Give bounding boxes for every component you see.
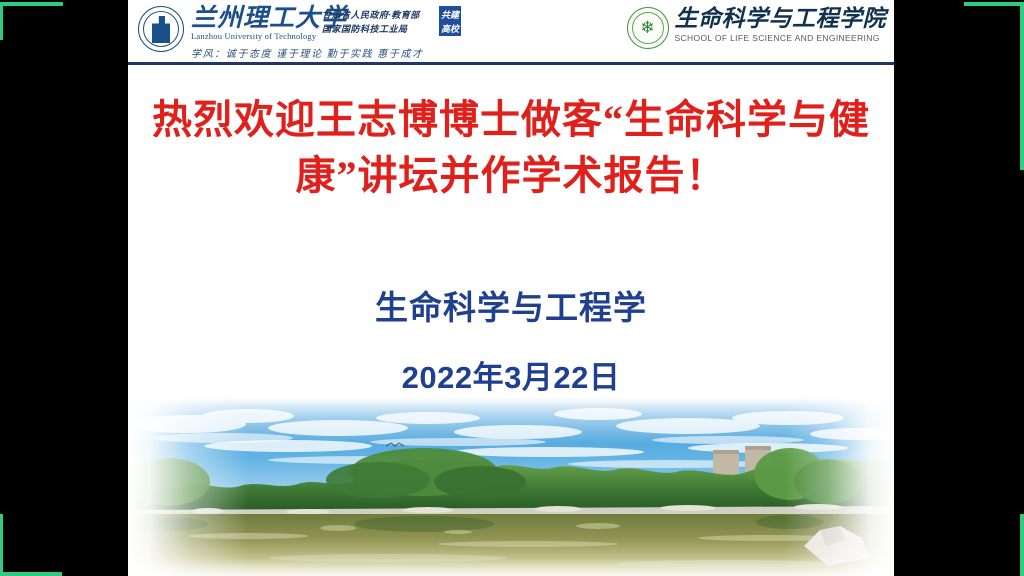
presentation-slide: 兰州理工大学 Lanzhou University of Technology … bbox=[128, 0, 894, 576]
slide-letterbox: 兰州理工大学 Lanzhou University of Technology … bbox=[0, 0, 1024, 576]
selection-marker-top-right bbox=[964, 2, 1024, 6]
slide-headline: 热烈欢迎王志博博士做客“生命科学与健康”讲坛并作学术报告！ bbox=[146, 92, 876, 204]
selection-marker-right-upper bbox=[1020, 2, 1024, 170]
university-seal-icon bbox=[138, 6, 184, 52]
co-built-university-badge: 共建 高校 bbox=[439, 6, 461, 36]
selection-marker-right-lower bbox=[1020, 514, 1024, 576]
university-motto: 学风：诚于态度 谨于理论 勤于实践 惠于成才 bbox=[191, 45, 424, 60]
badge-line-1: 共建 bbox=[439, 8, 461, 22]
slide-header: 兰州理工大学 Lanzhou University of Technology … bbox=[128, 0, 894, 66]
seal-leaf-glyph: ❄ bbox=[638, 18, 658, 38]
co-builders-line-2: 国家国防科技工业局 bbox=[322, 22, 442, 36]
seal-tower-glyph bbox=[152, 16, 170, 43]
slide-subtitle: 生命科学与工程学 bbox=[128, 288, 894, 328]
school-logo: ❄ 生命科学与工程学院 SCHOOL OF LIFE SCIENCE AND E… bbox=[627, 4, 887, 56]
co-builders-text: 甘肃省人民政府·教育部 国家国防科技工业局 bbox=[322, 8, 442, 36]
school-name-en: SCHOOL OF LIFE SCIENCE AND ENGINEERING bbox=[675, 33, 887, 43]
photo-fade-bottom bbox=[128, 542, 894, 576]
campus-lake-landscape-photo bbox=[128, 398, 894, 576]
slide-date: 2022年3月22日 bbox=[128, 358, 894, 398]
co-builders-line-1: 甘肃省人民政府·教育部 bbox=[322, 8, 442, 22]
school-seal-icon: ❄ bbox=[627, 7, 669, 49]
badge-line-2: 高校 bbox=[439, 22, 461, 36]
school-logo-text: 生命科学与工程学院 SCHOOL OF LIFE SCIENCE AND ENG… bbox=[675, 4, 887, 43]
selection-marker-bottom-left-horizontal bbox=[0, 572, 62, 576]
selection-marker-left bbox=[0, 2, 3, 40]
selection-marker-bottom-left-vertical bbox=[0, 514, 3, 576]
school-name-cn: 生命科学与工程学院 bbox=[675, 5, 887, 33]
header-divider bbox=[128, 62, 894, 65]
selection-marker-top-left bbox=[0, 2, 63, 6]
